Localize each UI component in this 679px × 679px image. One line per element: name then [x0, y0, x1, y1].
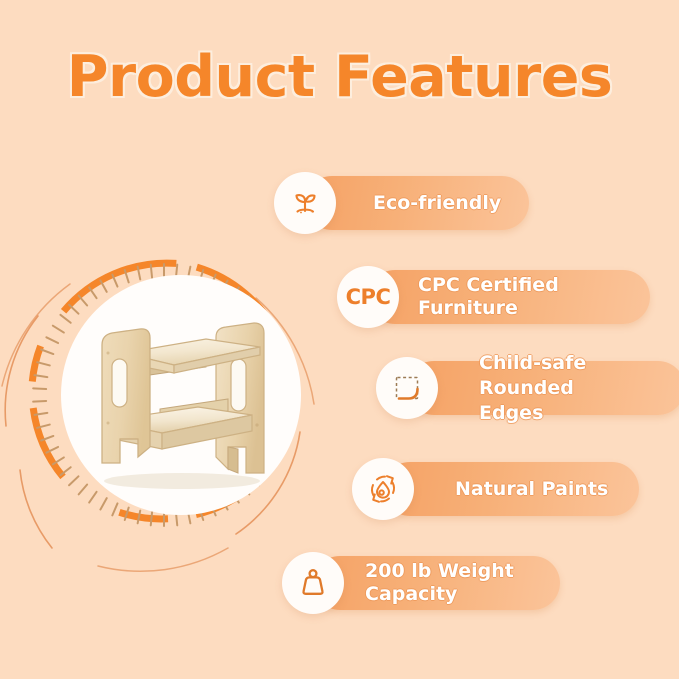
recycle-droplet-icon	[352, 458, 414, 520]
page-title: Product Features	[0, 44, 679, 110]
tick-mark	[37, 362, 50, 365]
tick-mark	[151, 265, 152, 278]
wooden-step-stool-illustration	[78, 297, 284, 493]
tick-mark	[138, 511, 141, 524]
tick-mark	[89, 492, 96, 503]
tick-mark	[53, 326, 64, 333]
tick-mark	[100, 498, 106, 509]
feature-pill[interactable]: Eco-friendly	[305, 176, 529, 230]
feature-pill[interactable]: Natural Paints	[383, 462, 639, 516]
tick-mark	[46, 337, 58, 343]
product-features-infographic: Product Features	[0, 0, 679, 679]
tick-mark	[35, 375, 48, 377]
sprout-icon	[274, 172, 336, 234]
rounded-corner-icon	[376, 357, 438, 419]
feature-pill[interactable]: Child-safe Rounded Edges	[407, 361, 679, 415]
cpc-badge-text: CPC	[346, 285, 391, 309]
feature-label: Natural Paints	[455, 478, 608, 501]
feature-pill[interactable]: CPC Certified Furniture	[368, 270, 650, 324]
feature-label: CPC Certified Furniture	[418, 274, 650, 320]
product-photo-frame	[61, 275, 301, 515]
tick-mark	[112, 503, 117, 515]
feature-label: 200 lb Weight Capacity	[365, 560, 560, 606]
feature-pill[interactable]: 200 lb Weight Capacity	[313, 556, 560, 610]
product-ring-graphic	[0, 218, 330, 574]
tick-mark	[33, 388, 46, 389]
cpc-badge-icon: CPC	[337, 266, 399, 328]
tick-mark	[33, 401, 46, 402]
tick-mark	[60, 315, 70, 323]
weight-icon	[282, 552, 344, 614]
feature-label: Child-safe Rounded Edges	[479, 351, 679, 426]
feature-label: Eco-friendly	[373, 192, 501, 215]
tick-mark	[151, 512, 152, 525]
tick-mark	[41, 350, 53, 355]
